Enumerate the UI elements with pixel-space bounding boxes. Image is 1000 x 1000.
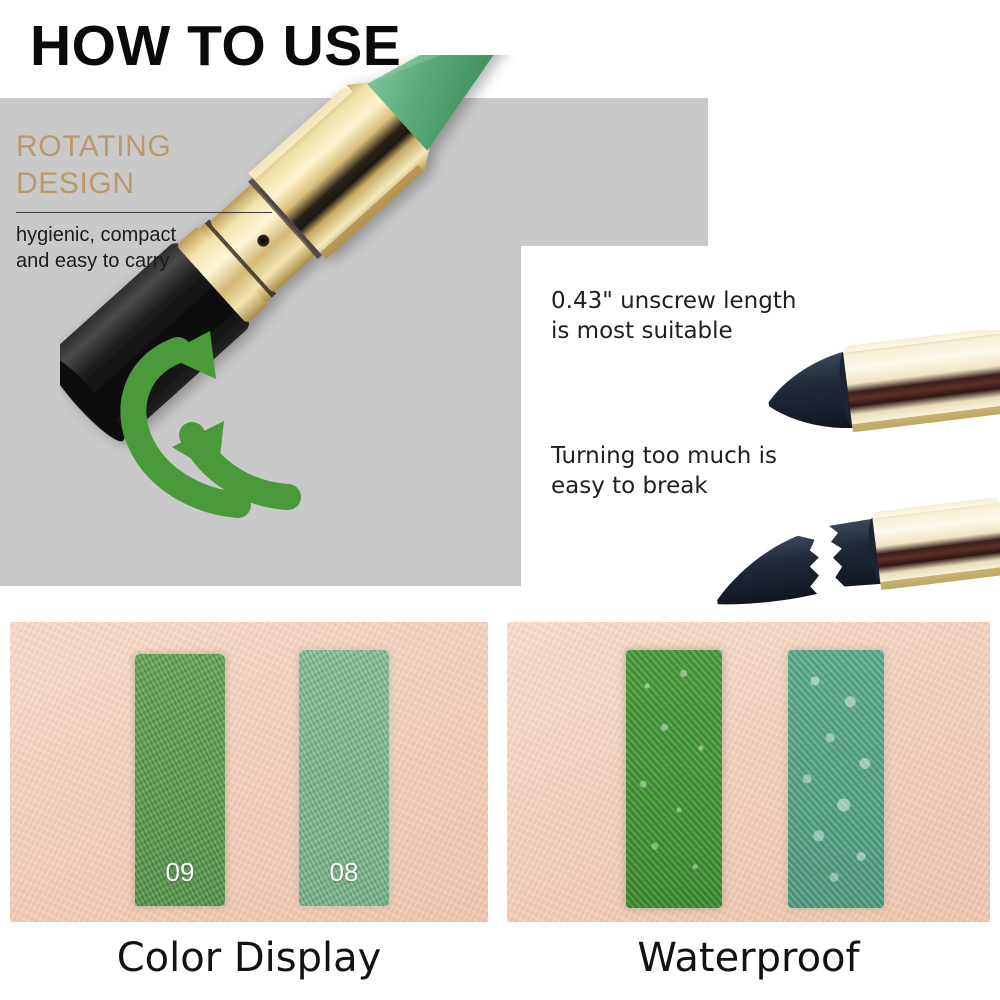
rotating-design-subtext: hygienic, compact and easy to carry	[16, 222, 316, 274]
intact-eyeliner-pen-image	[760, 330, 1000, 450]
swatch-waterproof-light	[788, 650, 884, 908]
waterproof-panel	[507, 622, 990, 922]
caption-color-display: Color Display	[10, 930, 488, 988]
caption-waterproof: Waterproof	[507, 930, 990, 988]
note-turning-breaks: Turning too much is easy to break	[551, 441, 777, 501]
page-title: HOW TO USE	[30, 14, 401, 78]
swatch-label: 09	[135, 858, 225, 886]
rotating-design-block: ROTATING DESIGN hygienic, compact and ea…	[16, 128, 316, 274]
rotating-design-heading: ROTATING DESIGN	[16, 128, 316, 202]
swatch-09: 09	[135, 654, 225, 906]
broken-eyeliner-pen-image	[705, 495, 1000, 620]
swatch-08: 08	[299, 650, 389, 906]
swatch-waterproof-dark	[626, 650, 722, 908]
swatch-label: 08	[299, 858, 389, 886]
skin-background	[10, 622, 488, 922]
divider	[16, 212, 272, 213]
skin-background	[507, 622, 990, 922]
hero-panel-bottom	[0, 246, 521, 586]
color-display-panel: 09 08	[10, 622, 488, 922]
